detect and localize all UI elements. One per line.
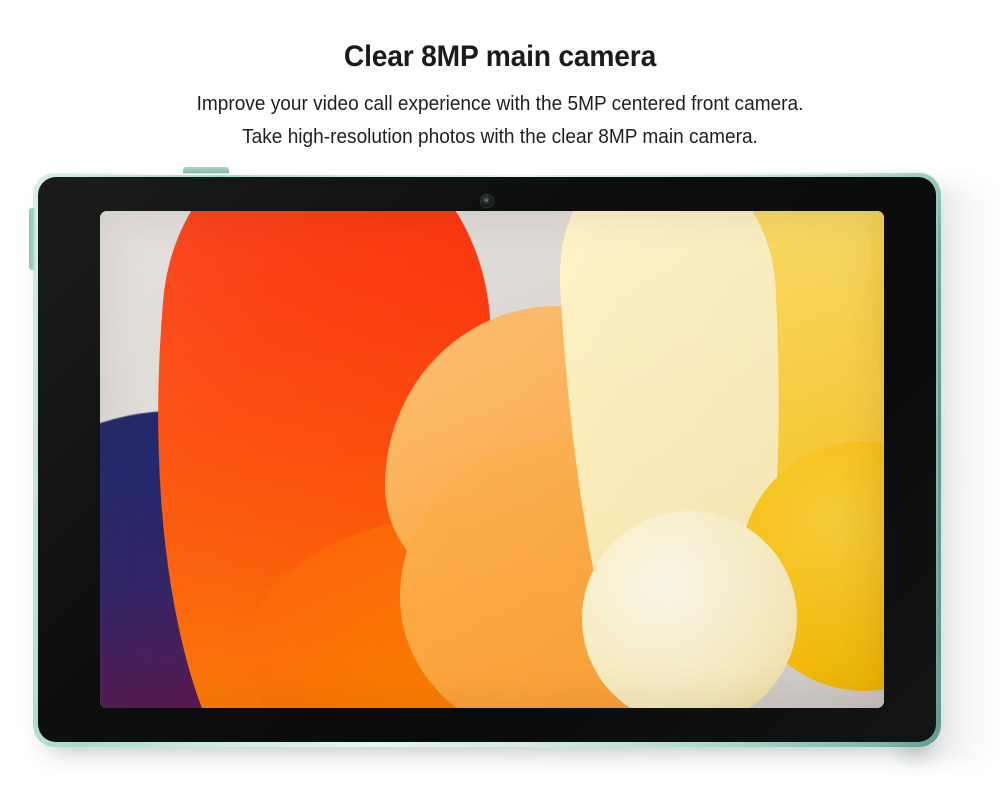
wallpaper-red-ribbon: [118, 211, 508, 708]
wallpaper-yellow-ribbon: [660, 211, 884, 661]
front-camera-icon: [481, 195, 493, 207]
screen-vignette: [100, 211, 884, 708]
tablet-device: [33, 172, 941, 747]
page-title: Clear 8MP main camera: [30, 0, 970, 76]
wallpaper-peach-lobe: [385, 306, 715, 606]
device-drop-shadow: [52, 190, 952, 750]
subtitle-line-1: Improve your video call experience with …: [35, 76, 965, 119]
tablet-screen[interactable]: [100, 211, 884, 708]
frame-right-highlight: [938, 188, 941, 728]
power-button[interactable]: [183, 167, 229, 174]
frame-top-highlight: [51, 172, 923, 175]
wallpaper-cream-orb: [582, 511, 797, 708]
device-side-shadow: [905, 185, 1000, 760]
header-copy: Clear 8MP main camera Improve your video…: [0, 0, 1000, 152]
wallpaper-background: [100, 211, 884, 708]
wallpaper-orange-ribbon: [250, 511, 670, 708]
display-bezel: [38, 177, 936, 742]
wallpaper: [100, 211, 884, 708]
wallpaper-cream-ribbon: [553, 211, 801, 708]
volume-rocker-button[interactable]: [29, 208, 35, 270]
wallpaper-navy-blob: [100, 411, 400, 708]
wallpaper-amber-lobe: [400, 441, 690, 708]
wallpaper-yellow-edge: [870, 211, 884, 501]
screen-glass-reflection: [100, 211, 884, 708]
wallpaper-yellow-orb: [740, 441, 884, 691]
subtitle-line-2: Take high-resolution photos with the cle…: [35, 119, 965, 152]
